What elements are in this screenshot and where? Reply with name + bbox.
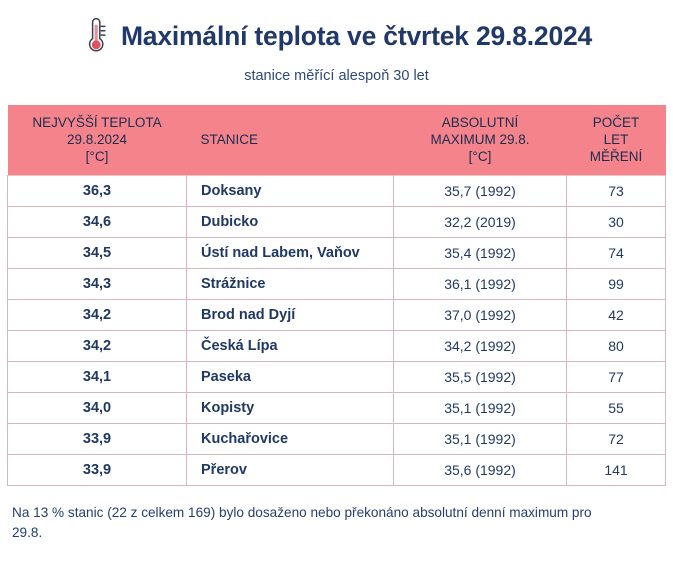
column-header-station: STANICE: [187, 105, 394, 176]
cell-station: Doksany: [187, 175, 394, 206]
table-header: NEJVYŠŠÍ TEPLOTA 29.8.2024 [°C] STANICE …: [8, 105, 666, 176]
cell-station: Brod nad Dyjí: [187, 299, 394, 330]
cell-years: 80: [567, 330, 666, 361]
cell-absolute-max: 35,7 (1992): [394, 175, 567, 206]
cell-years: 141: [567, 454, 666, 485]
cell-max-temp: 33,9: [8, 423, 187, 454]
cell-years: 30: [567, 206, 666, 237]
column-header-line: MĚŘENÍ: [590, 149, 643, 164]
table-row: 34,6 Dubicko 32,2 (2019) 30: [8, 206, 666, 237]
cell-max-temp: 36,3: [8, 175, 187, 206]
cell-station: Strážnice: [187, 268, 394, 299]
thermometer-icon: [81, 16, 111, 56]
cell-absolute-max: 35,1 (1992): [394, 423, 567, 454]
footnote-text: Na 13 % stanic (22 z celkem 169) bylo do…: [12, 503, 622, 542]
column-header-line: [°C]: [86, 149, 109, 164]
cell-years: 77: [567, 361, 666, 392]
column-header-line: POČET: [593, 115, 640, 130]
table-row: 34,3 Strážnice 36,1 (1992) 99: [8, 268, 666, 299]
cell-absolute-max: 35,1 (1992): [394, 392, 567, 423]
column-header-line: STANICE: [201, 132, 259, 147]
page-subtitle: stanice měřící alespoň 30 let: [0, 69, 673, 84]
table-row: 34,5 Ústí nad Labem, Vaňov 35,4 (1992) 7…: [8, 237, 666, 268]
cell-max-temp: 34,5: [8, 237, 187, 268]
cell-absolute-max: 35,5 (1992): [394, 361, 567, 392]
cell-station: Paseka: [187, 361, 394, 392]
column-header-line: [°C]: [469, 149, 492, 164]
temperature-table-container: NEJVYŠŠÍ TEPLOTA 29.8.2024 [°C] STANICE …: [7, 105, 665, 486]
cell-years: 73: [567, 175, 666, 206]
table-header-row: NEJVYŠŠÍ TEPLOTA 29.8.2024 [°C] STANICE …: [8, 105, 666, 176]
page-title: Maximální teplota ve čtvrtek 29.8.2024: [121, 23, 592, 50]
table-row: 33,9 Kuchařovice 35,1 (1992) 72: [8, 423, 666, 454]
cell-station: Kuchařovice: [187, 423, 394, 454]
column-header-line: 29.8.2024: [67, 132, 127, 147]
table-row: 34,1 Paseka 35,5 (1992) 77: [8, 361, 666, 392]
table-row: 33,9 Přerov 35,6 (1992) 141: [8, 454, 666, 485]
table-row: 34,0 Kopisty 35,1 (1992) 55: [8, 392, 666, 423]
cell-absolute-max: 34,2 (1992): [394, 330, 567, 361]
cell-max-temp: 34,2: [8, 330, 187, 361]
cell-max-temp: 34,1: [8, 361, 187, 392]
page-header: Maximální teplota ve čtvrtek 29.8.2024: [0, 0, 673, 58]
table-body: 36,3 Doksany 35,7 (1992) 73 34,6 Dubicko…: [8, 175, 666, 485]
cell-absolute-max: 32,2 (2019): [394, 206, 567, 237]
cell-absolute-max: 36,1 (1992): [394, 268, 567, 299]
cell-absolute-max: 35,4 (1992): [394, 237, 567, 268]
cell-years: 55: [567, 392, 666, 423]
table-row: 34,2 Brod nad Dyjí 37,0 (1992) 42: [8, 299, 666, 330]
cell-years: 74: [567, 237, 666, 268]
cell-station: Přerov: [187, 454, 394, 485]
cell-absolute-max: 37,0 (1992): [394, 299, 567, 330]
column-header-line: ABSOLUTNÍ: [442, 115, 519, 130]
cell-max-temp: 34,2: [8, 299, 187, 330]
cell-absolute-max: 35,6 (1992): [394, 454, 567, 485]
table-row: 34,2 Česká Lípa 34,2 (1992) 80: [8, 330, 666, 361]
column-header-line: MAXIMUM 29.8.: [430, 132, 529, 147]
cell-max-temp: 34,0: [8, 392, 187, 423]
temperature-table: NEJVYŠŠÍ TEPLOTA 29.8.2024 [°C] STANICE …: [7, 105, 666, 486]
cell-station: Dubicko: [187, 206, 394, 237]
column-header-years-measured: POČET LET MĚŘENÍ: [567, 105, 666, 176]
column-header-line: LET: [604, 132, 629, 147]
column-header-line: NEJVYŠŠÍ TEPLOTA: [32, 115, 161, 130]
cell-years: 72: [567, 423, 666, 454]
cell-station: Česká Lípa: [187, 330, 394, 361]
cell-max-temp: 34,3: [8, 268, 187, 299]
column-header-max-temp: NEJVYŠŠÍ TEPLOTA 29.8.2024 [°C]: [8, 105, 187, 176]
table-row: 36,3 Doksany 35,7 (1992) 73: [8, 175, 666, 206]
cell-years: 42: [567, 299, 666, 330]
column-header-absolute-max: ABSOLUTNÍ MAXIMUM 29.8. [°C]: [394, 105, 567, 176]
cell-years: 99: [567, 268, 666, 299]
cell-max-temp: 33,9: [8, 454, 187, 485]
cell-station: Ústí nad Labem, Vaňov: [187, 237, 394, 268]
cell-max-temp: 34,6: [8, 206, 187, 237]
cell-station: Kopisty: [187, 392, 394, 423]
